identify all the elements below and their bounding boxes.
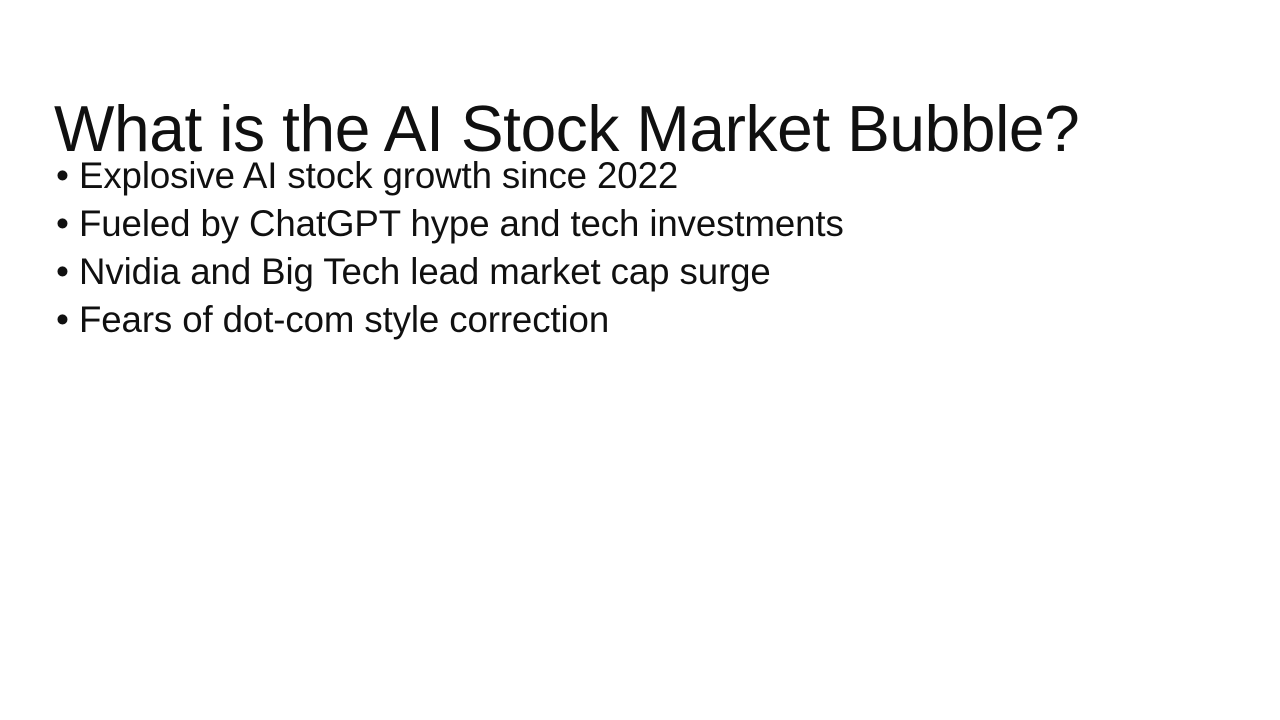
list-item-label: Nvidia and Big Tech lead market cap surg…: [79, 248, 771, 296]
bullet-point-icon: •: [56, 248, 79, 296]
list-item: • Fears of dot-com style correction: [56, 296, 1216, 344]
bullet-list: • Explosive AI stock growth since 2022 •…: [56, 152, 1216, 344]
slide-canvas: What is the AI Stock Market Bubble? • Ex…: [0, 0, 1280, 720]
bullet-point-icon: •: [56, 200, 79, 248]
list-item-label: Explosive AI stock growth since 2022: [79, 152, 678, 200]
bullet-point-icon: •: [56, 296, 79, 344]
list-item: • Fueled by ChatGPT hype and tech invest…: [56, 200, 1216, 248]
list-item-label: Fears of dot-com style correction: [79, 296, 609, 344]
list-item: • Explosive AI stock growth since 2022: [56, 152, 1216, 200]
list-item-label: Fueled by ChatGPT hype and tech investme…: [79, 200, 844, 248]
list-item: • Nvidia and Big Tech lead market cap su…: [56, 248, 1216, 296]
bullet-point-icon: •: [56, 152, 79, 200]
